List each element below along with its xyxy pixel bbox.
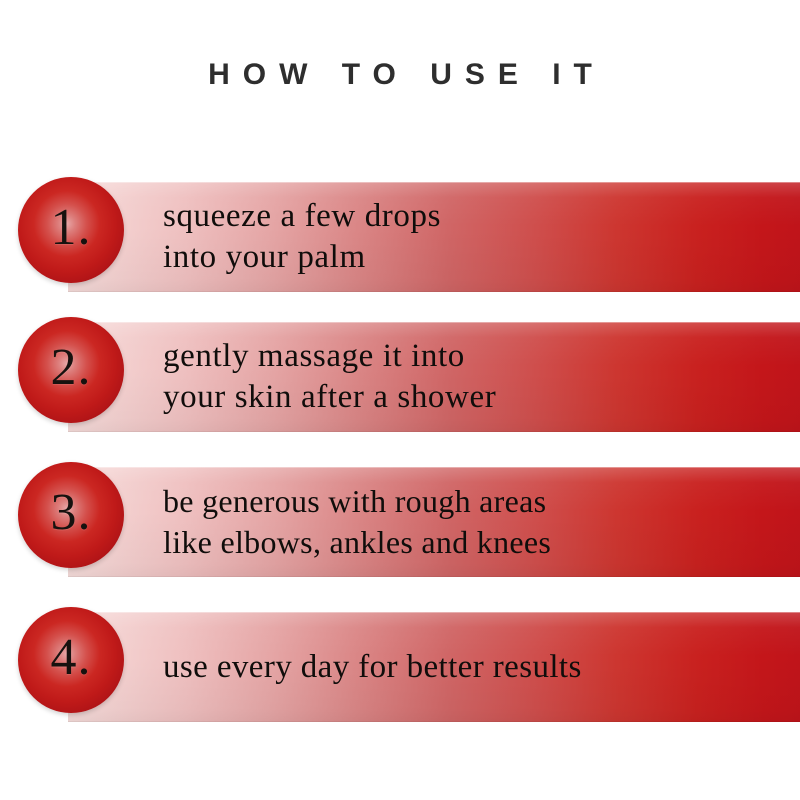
step-number-label-2: 2. [51,342,92,394]
step-number-label-1: 1. [51,202,92,254]
step-number-badge-3: 3. [18,462,124,568]
step-row-4: 4. use every day for better results [0,612,800,722]
step-text-3: be generous with rough areas like elbows… [163,467,551,577]
step-text-line: your skin after a shower [163,377,496,418]
step-number-badge-1: 1. [18,177,124,283]
step-text-line: into your palm [163,237,441,278]
step-number-badge-4: 4. [18,607,124,713]
step-text-1: squeeze a few drops into your palm [163,182,441,292]
step-number-badge-2: 2. [18,317,124,423]
step-text-line: gently massage it into [163,336,496,377]
step-number-label-4: 4. [51,632,92,684]
step-text-line: use every day for better results [163,647,582,688]
step-text-line: squeeze a few drops [163,196,441,237]
step-number-label-3: 3. [51,487,92,539]
step-text-2: gently massage it into your skin after a… [163,322,496,432]
step-text-4: use every day for better results [163,612,582,722]
how-to-use-infographic: HOW TO USE IT 1. squeeze a few drops int… [0,0,800,800]
step-text-line: be generous with rough areas [163,481,551,522]
step-row-2: 2. gently massage it into your skin afte… [0,322,800,432]
step-row-1: 1. squeeze a few drops into your palm [0,182,800,292]
page-title: HOW TO USE IT [0,58,800,92]
step-row-3: 3. be generous with rough areas like elb… [0,467,800,577]
step-text-line: like elbows, ankles and knees [163,522,551,563]
